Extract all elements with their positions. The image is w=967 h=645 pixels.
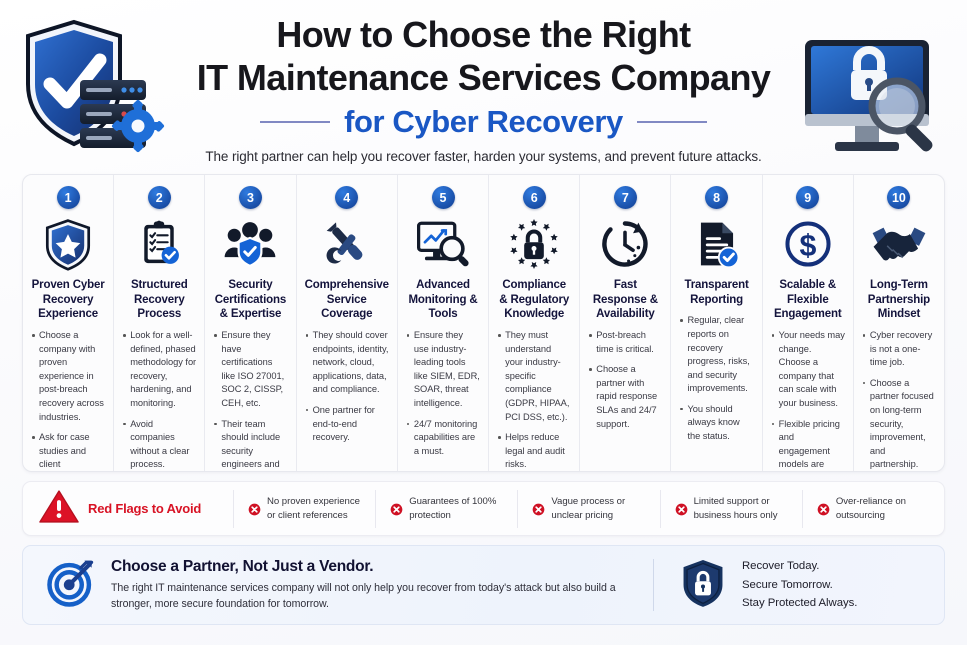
monitor-lock-magnifier-icon [791,22,959,166]
list-item: Ask for case studies and client referenc… [31,431,105,472]
list-item: Flexible pricing and engagement models a… [771,418,845,472]
red-flags-bar: Red Flags to Avoid No proven experience … [22,481,945,536]
factor-column-8: 8 Transparent Reporting Regular, clear r… [671,175,762,471]
factor-badge-5: 5 [432,186,455,209]
page-title-line2: IT Maintenance Services Company [178,59,789,97]
factor-badge-8: 8 [705,186,728,209]
wrench-screwdriver-icon [305,215,389,273]
factor-title-8: Transparent Reporting [679,278,753,307]
list-item: Avoid companies without a clear process. [122,418,196,472]
red-flag-item-4: Limited support or business hours only [660,490,802,528]
page-subtitle: The right partner can help you recover f… [178,149,789,164]
factor-title-10: Long-Term Partnership Mindset [862,278,936,322]
x-circle-icon [248,503,261,516]
factor-column-7: 7 Fast Response & Availability Post-brea… [580,175,671,471]
subtitle-accent-row: for Cyber Recovery [178,104,789,140]
factor-title-1: Proven Cyber Recovery Experience [31,278,105,322]
monitor-chart-magnifier-icon [406,215,480,273]
x-circle-icon [390,503,403,516]
factor-title-6: Compliance & Regulatory Knowledge [497,278,571,322]
red-flag-item-1: No proven experience or client reference… [233,490,375,528]
list-item: 24/7 monitoring capabilities are a must. [406,418,480,459]
red-flags-label: Red Flags to Avoid [88,501,201,516]
factor-title-4: Comprehensive Service Coverage [305,278,389,322]
factor-bullets-4: They should cover endpoints, identity, n… [305,329,389,445]
list-item: You should always know the status. [679,403,753,444]
page-title-line3: for Cyber Recovery [344,104,623,140]
factor-title-5: Advanced Monitoring & Tools [406,278,480,322]
list-item: They must understand your industry-speci… [497,329,571,424]
footer-tagline-line3: Stay Protected Always. [742,594,857,612]
page-title-line1: How to Choose the Right [178,16,789,54]
red-flag-text: Limited support or business hours only [694,495,794,522]
factor-title-7: Fast Response & Availability [588,278,662,322]
x-circle-icon [532,503,545,516]
handshake-icon [862,215,936,273]
document-check-icon [679,215,753,273]
red-flag-item-2: Guarantees of 100% protection [375,490,517,528]
factor-bullets-8: Regular, clear reports on recovery progr… [679,314,753,443]
factor-column-1: 1 Proven Cyber Recovery Experience Choos… [23,175,114,471]
red-flags-header: Red Flags to Avoid [23,489,233,529]
svg-text:$: $ [799,230,816,263]
rule-right [637,121,707,123]
factor-bullets-5: Ensure they use industry-leading tools l… [406,329,480,458]
footer-tagline: Recover Today. Secure Tomorrow. Stay Pro… [742,557,857,612]
factor-badge-9: 9 [796,186,819,209]
footer-tagline-line2: Secure Tomorrow. [742,576,857,594]
list-item: Post-breach time is critical. [588,329,662,356]
list-item: Cyber recovery is not a one-time job. [862,329,936,370]
list-item: Helps reduce legal and audit risks. [497,431,571,472]
factor-bullets-6: They must understand your industry-speci… [497,329,571,472]
red-flag-text: Guarantees of 100% protection [409,495,509,522]
factor-bullets-3: Ensure they have certifications like ISO… [213,329,287,472]
factor-bullets-2: Look for a well-defined, phased methodol… [122,329,196,472]
list-item: Ensure they have certifications like ISO… [213,329,287,410]
x-circle-icon [817,503,830,516]
red-flag-item-3: Vague process or unclear pricing [517,490,659,528]
factor-badge-1: 1 [57,186,80,209]
padlock-stars-icon [497,215,571,273]
infographic-page: How to Choose the Right IT Maintenance S… [0,0,967,645]
factor-column-5: 5 Advanced Monitoring & Tools Ensure the… [398,175,489,471]
list-item: Look for a well-defined, phased methodol… [122,329,196,410]
factor-bullets-10: Cyber recovery is not a one-time job. Ch… [862,329,936,472]
footer-cta: Choose a Partner, Not Just a Vendor. The… [22,545,945,625]
factor-title-3: Security Certifications & Expertise [213,278,287,322]
footer-right: Recover Today. Secure Tomorrow. Stay Pro… [654,557,944,614]
factor-column-10: 10 Long-Term Partnership Mindset Cyber r… [854,175,944,471]
list-item: Ensure they use industry-leading tools l… [406,329,480,410]
footer-body: The right IT maintenance services compan… [111,580,635,613]
factor-column-6: 6 [489,175,580,471]
x-circle-icon [675,503,688,516]
shield-star-icon [31,215,105,273]
clipboard-checklist-icon [122,215,196,273]
factor-badge-4: 4 [335,186,358,209]
factor-bullets-7: Post-breach time is critical. Choose a p… [588,329,662,431]
shield-lock-icon [680,557,726,614]
red-flag-text: Over-reliance on outsourcing [836,495,936,522]
factor-badge-2: 2 [148,186,171,209]
list-item: One partner for end-to-end recovery. [305,404,389,445]
list-item: They should cover endpoints, identity, n… [305,329,389,397]
dollar-circle-icon: $ [771,215,845,273]
factor-badge-6: 6 [523,186,546,209]
factor-badge-7: 7 [614,186,637,209]
factor-badge-3: 3 [239,186,262,209]
list-item: Choose a company with proven experience … [31,329,105,424]
list-item: Their team should include security engin… [213,418,287,472]
footer-heading: Choose a Partner, Not Just a Vendor. [111,558,635,576]
clock-arrow-icon [588,215,662,273]
red-flag-text: Vague process or unclear pricing [551,495,651,522]
list-item: Your needs may change. Choose a company … [771,329,845,410]
title-block: How to Choose the Right IT Maintenance S… [178,12,789,164]
target-arrow-icon [45,557,97,614]
red-flag-text: No proven experience or client reference… [267,495,367,522]
factor-title-9: Scalable & Flexible Engagement [771,278,845,322]
factor-column-3: 3 Security Certifications & Expertise En… [205,175,296,471]
factor-column-9: 9 $ Scalable & Flexible Engagement Your … [763,175,854,471]
shield-check-server-gear-icon [12,14,172,162]
header: How to Choose the Right IT Maintenance S… [0,0,967,168]
rule-left [260,121,330,123]
list-item: Regular, clear reports on recovery progr… [679,314,753,395]
footer-text-block: Choose a Partner, Not Just a Vendor. The… [111,558,635,613]
factor-bullets-9: Your needs may change. Choose a company … [771,329,845,472]
team-shield-check-icon [213,215,287,273]
factor-bullets-1: Choose a company with proven experience … [31,329,105,472]
factor-title-2: Structured Recovery Process [122,278,196,322]
factor-badge-10: 10 [887,186,910,209]
warning-triangle-icon [39,489,79,529]
factors-card: 1 Proven Cyber Recovery Experience Choos… [22,174,945,472]
list-item: Choose a partner with rapid response SLA… [588,363,662,431]
footer-tagline-line1: Recover Today. [742,557,857,575]
factor-column-2: 2 Structured Recovery Process [114,175,205,471]
list-item: Choose a partner focused on long-term se… [862,377,936,472]
red-flag-item-5: Over-reliance on outsourcing [802,490,944,528]
footer-left: Choose a Partner, Not Just a Vendor. The… [23,557,653,614]
factor-column-4: 4 Comprehensive Service Coverage [297,175,398,471]
